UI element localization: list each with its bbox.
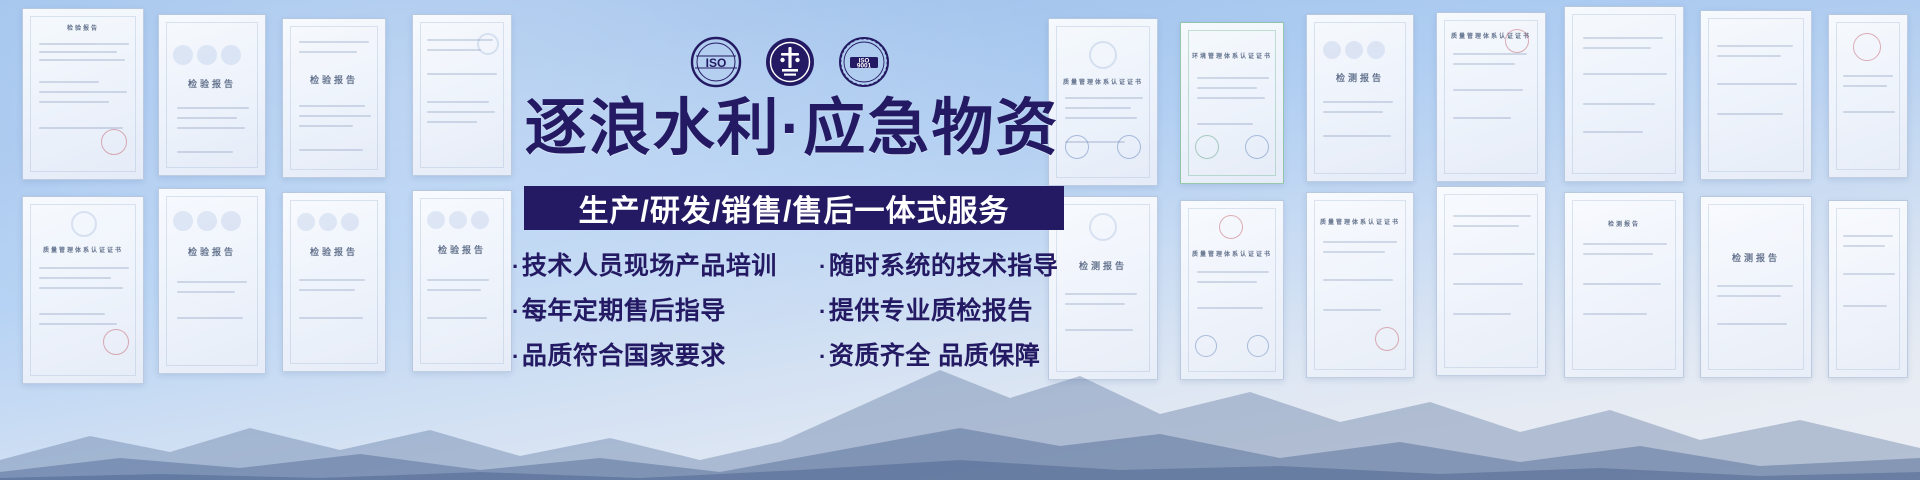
feature-label: 技术人员现场产品培训 <box>522 246 777 282</box>
bullet-dot-icon: · <box>819 301 827 323</box>
feature-item: · 随时系统的技术指导 <box>819 246 1077 282</box>
certificate-card: 检验报告 <box>282 18 386 178</box>
feature-list: · 技术人员现场产品培训 · 随时系统的技术指导 · 每年定期售后指导 · 提供… <box>512 246 1077 381</box>
certificate-title: 质量管理体系认证证书 <box>1437 31 1545 40</box>
feature-label: 资质齐全 品质保障 <box>829 336 1040 372</box>
certificate-title: 检验报告 <box>159 77 265 90</box>
svg-text:ISO: ISO <box>706 56 727 70</box>
certificate-card: 质量管理体系认证证书 <box>1436 12 1546 182</box>
feature-item: · 品质符合国家要求 <box>512 336 807 372</box>
certificate-card <box>1828 14 1908 178</box>
page-title: 逐浪水利·应急物资 <box>512 96 1072 161</box>
certificate-card: 检验报告 <box>22 8 144 180</box>
certificate-title: 检验报告 <box>283 73 385 86</box>
feature-item: · 每年定期售后指导 <box>512 291 807 327</box>
certificate-title: 检验报告 <box>23 23 143 32</box>
certification-emblems: ISO <box>690 34 890 90</box>
sky-gradient-overlay <box>0 0 1920 480</box>
certificate-title: 检验报告 <box>283 245 385 258</box>
certificate-card <box>1828 200 1908 378</box>
certificate-card: 检测报告 <box>1564 192 1684 378</box>
certificate-title: 质量管理体系认证证书 <box>1307 217 1413 226</box>
certificate-wall: 检验报告 检验报告 检验报告 <box>0 0 1920 480</box>
certificate-card <box>1564 6 1684 182</box>
certificate-title: 检测报告 <box>1701 251 1811 264</box>
subtitle-bar: 生产/研发/销售/售后一体式服务 <box>524 186 1064 230</box>
bullet-dot-icon: · <box>819 346 827 368</box>
feature-item: · 技术人员现场产品培训 <box>512 246 807 282</box>
certificate-title: 检测报告 <box>1565 219 1683 228</box>
bullet-dot-icon: · <box>512 301 520 323</box>
certificate-card: 质量管理体系认证证书 <box>1306 192 1414 378</box>
certificate-title: 检验报告 <box>159 245 265 258</box>
feature-item: · 资质齐全 品质保障 <box>819 336 1077 372</box>
iso-emblem: ISO <box>690 36 742 88</box>
svg-text:9001: 9001 <box>857 63 872 70</box>
certificate-card: 检验报告 <box>158 188 266 374</box>
certificate-title: 环境管理体系认证证书 <box>1181 51 1283 60</box>
bullet-dot-icon: · <box>512 256 520 278</box>
feature-row: · 技术人员现场产品培训 · 随时系统的技术指导 <box>512 246 1077 291</box>
certificate-card: 检测报告 <box>1306 14 1414 182</box>
certificate-card: 质量管理体系认证证书 <box>22 196 144 384</box>
feature-row: · 品质符合国家要求 · 资质齐全 品质保障 <box>512 336 1077 381</box>
iso9001-emblem: ISO 9001 <box>838 36 890 88</box>
certificate-title: 检测报告 <box>1307 71 1413 84</box>
feature-row: · 每年定期售后指导 · 提供专业质检报告 <box>512 291 1077 336</box>
certificate-card <box>412 14 512 176</box>
quality-supervision-emblem <box>764 36 816 88</box>
certificate-card: 质量管理体系认证证书 <box>1180 200 1284 380</box>
feature-label: 提供专业质检报告 <box>829 291 1033 327</box>
certificate-card: 检验报告 <box>158 14 266 176</box>
bullet-dot-icon: · <box>819 256 827 278</box>
bullet-dot-icon: · <box>512 346 520 368</box>
certificate-card <box>1700 10 1812 180</box>
certificate-title: 检验报告 <box>413 243 511 256</box>
feature-item: · 提供专业质检报告 <box>819 291 1077 327</box>
subtitle-text: 生产/研发/销售/售后一体式服务 <box>578 186 1009 230</box>
certificate-card: 检验报告 <box>412 190 512 372</box>
certificate-title: 质量管理体系认证证书 <box>23 245 143 254</box>
certificate-title: 质量管理体系认证证书 <box>1181 249 1283 258</box>
certificate-title: 质量管理体系认证证书 <box>1049 77 1157 86</box>
feature-label: 随时系统的技术指导 <box>829 246 1059 282</box>
certificate-card <box>1436 186 1546 376</box>
certificate-card: 检验报告 <box>282 192 386 372</box>
feature-label: 品质符合国家要求 <box>522 336 726 372</box>
certificate-card: 检测报告 <box>1700 196 1812 378</box>
feature-label: 每年定期售后指导 <box>522 291 726 327</box>
promo-banner: 检验报告 检验报告 检验报告 <box>0 0 1920 480</box>
certificate-card: 环境管理体系认证证书 <box>1180 22 1284 184</box>
